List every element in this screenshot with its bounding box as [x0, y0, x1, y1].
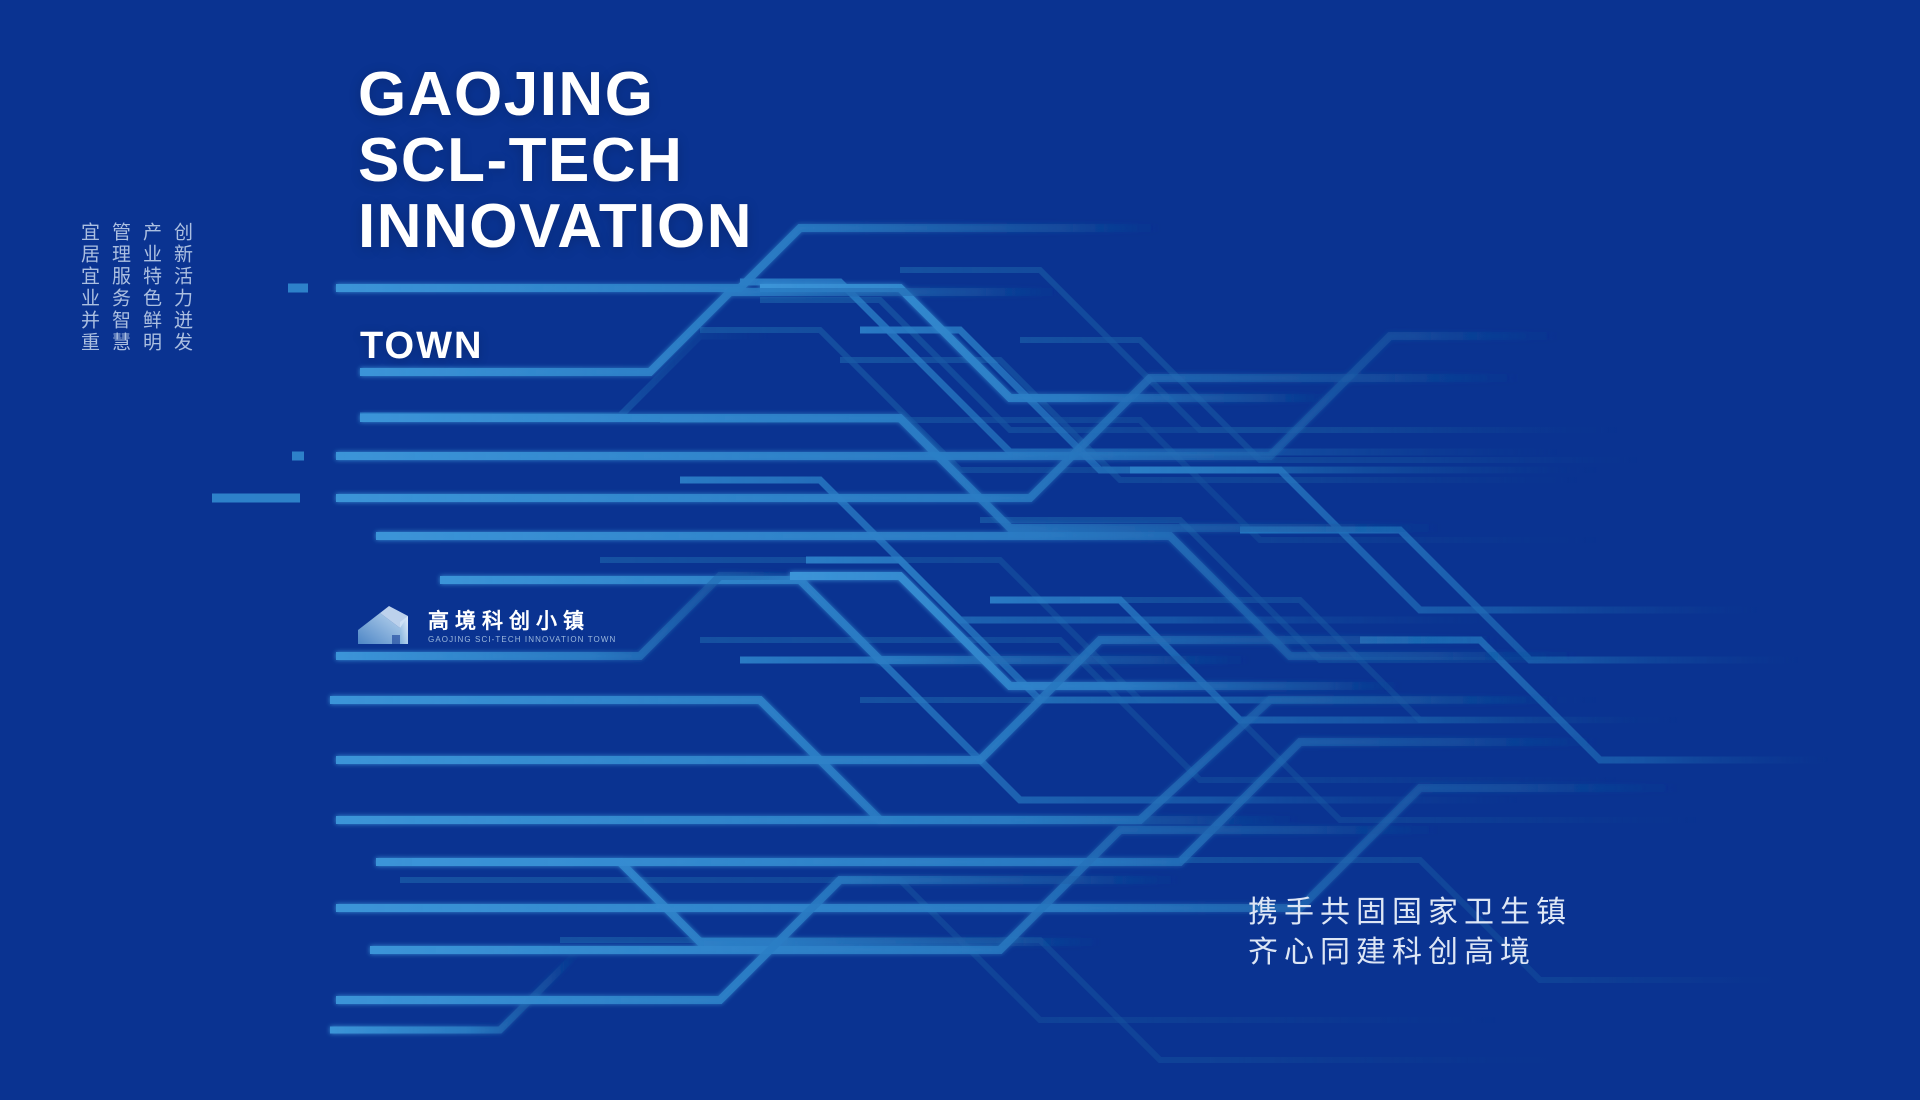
headline: GAOJING SCL-TECH INNOVATION — [358, 62, 1078, 260]
logo-lockup: 高境科创小镇 GAOJING SCI-TECH INNOVATION TOWN — [356, 604, 616, 650]
house-building-icon — [356, 604, 416, 650]
vertical-tagline-col-2: 产业特色鲜明 — [140, 222, 162, 422]
slogan-line-2: 齐心同建科创高境 — [1248, 933, 1572, 973]
logo-name-en: GAOJING SCI-TECH INNOVATION TOWN — [428, 635, 616, 645]
headline-line-1: GAOJING — [358, 62, 1078, 128]
logo-name-cn: 高境科创小镇 — [428, 609, 616, 633]
slogan: 携手共固国家卫生镇 齐心同建科创高境 — [1248, 893, 1572, 973]
poster-canvas: GAOJING SCL-TECH INNOVATION TOWN 创新活力迸发 … — [0, 0, 1920, 1100]
vertical-tagline-col-4: 宜居宜业并重 — [78, 222, 100, 422]
vertical-tagline: 创新活力迸发 产业特色鲜明 管理服务智慧 宜居宜业并重 — [78, 222, 193, 422]
headline-line-4: TOWN — [360, 325, 483, 368]
headline-line-2: SCL-TECH — [358, 128, 1078, 194]
slogan-line-1: 携手共固国家卫生镇 — [1248, 893, 1572, 933]
vertical-tagline-col-3: 管理服务智慧 — [109, 222, 131, 422]
headline-line-3: INNOVATION — [358, 194, 1078, 260]
vertical-tagline-col-1: 创新活力迸发 — [171, 222, 193, 422]
